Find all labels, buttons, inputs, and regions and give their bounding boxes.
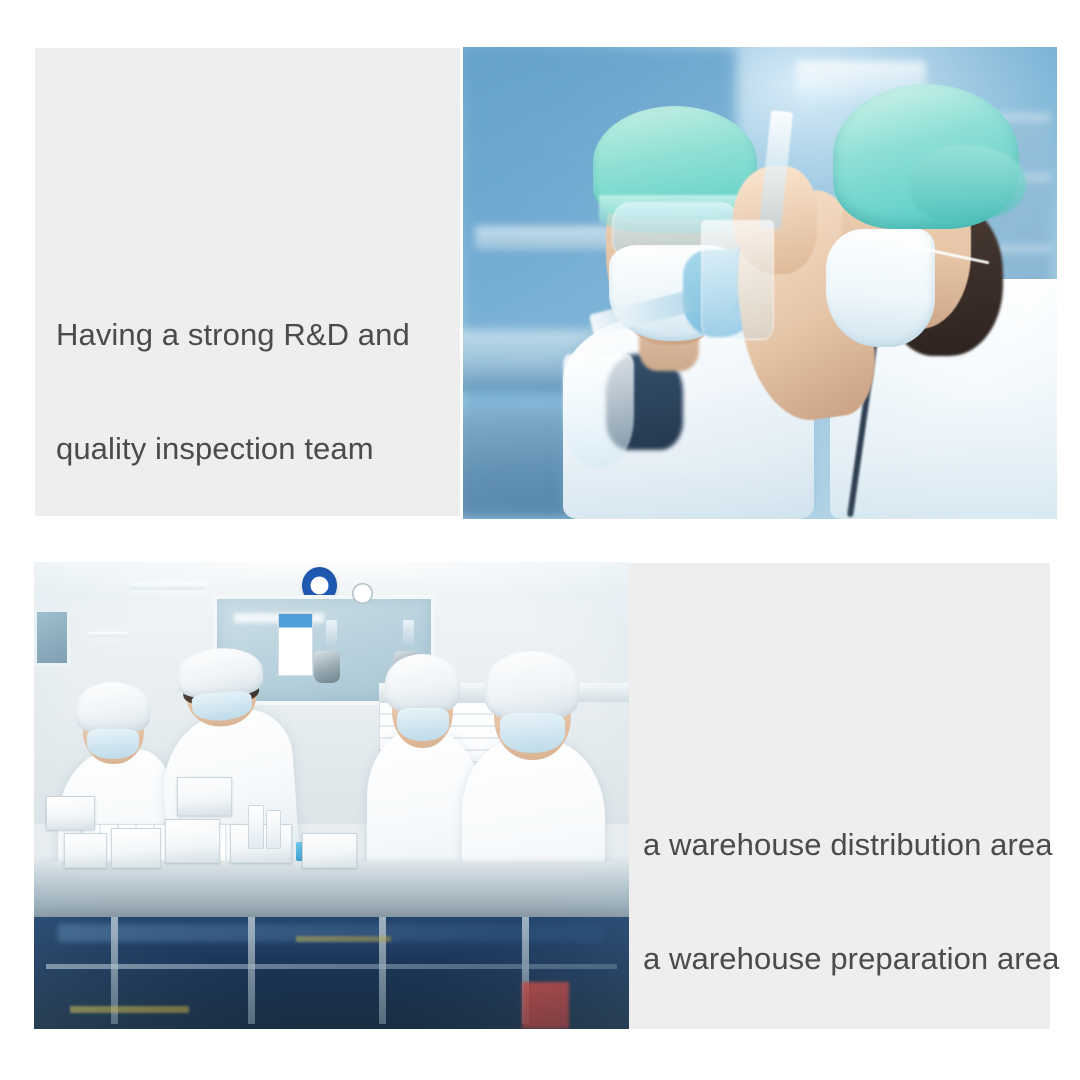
shelf-vial (403, 620, 414, 643)
lab-scene (463, 47, 1057, 519)
carton (64, 833, 108, 868)
lab-technician-profile (772, 66, 1057, 519)
red-bin (522, 982, 570, 1029)
hairnet-cap (833, 84, 1019, 229)
steel-packing-table (34, 861, 629, 922)
table-leg (379, 917, 386, 1024)
carton (177, 777, 233, 816)
table-rail (46, 964, 617, 970)
face-mask (87, 729, 139, 758)
ceiling-lamp (88, 632, 130, 637)
lab-quality-inspection-photo (463, 47, 1057, 519)
top-caption: Having a strong R&D and quality inspecti… (56, 240, 410, 544)
floor-tape (296, 936, 391, 943)
hairnet (485, 651, 579, 719)
carton (111, 828, 161, 867)
glass-flask (563, 354, 634, 467)
top-caption-line-2: quality inspection team (56, 430, 410, 468)
hairnet (76, 682, 151, 733)
table-leg (248, 917, 255, 1024)
side-window (34, 609, 70, 666)
floor-tape (70, 1006, 189, 1013)
warehouse-packing-photo (34, 562, 629, 1029)
bottom-caption-line-1: a warehouse distribution area (643, 826, 1059, 864)
top-caption-line-1: Having a strong R&D and (56, 316, 410, 354)
bottom-caption: a warehouse distribution area a warehous… (643, 750, 1059, 1054)
hairnet (385, 654, 460, 712)
shelf-vial (326, 620, 338, 646)
wall-poster (278, 613, 313, 676)
product-bottle (266, 810, 281, 849)
packing-room-scene (34, 562, 629, 1029)
metal-container (314, 651, 340, 684)
beaker (701, 220, 774, 340)
product-bottle (248, 805, 264, 849)
face-mask (397, 708, 449, 742)
bottom-caption-line-2: a warehouse preparation area (643, 940, 1059, 978)
collage-page: Having a strong R&D and quality inspecti… (0, 0, 1080, 1080)
ceiling-lamp (129, 583, 206, 590)
wall-clock-icon (352, 583, 372, 604)
face-mask (500, 713, 566, 752)
carton (46, 796, 96, 831)
carton (165, 819, 221, 863)
carton (302, 833, 358, 868)
